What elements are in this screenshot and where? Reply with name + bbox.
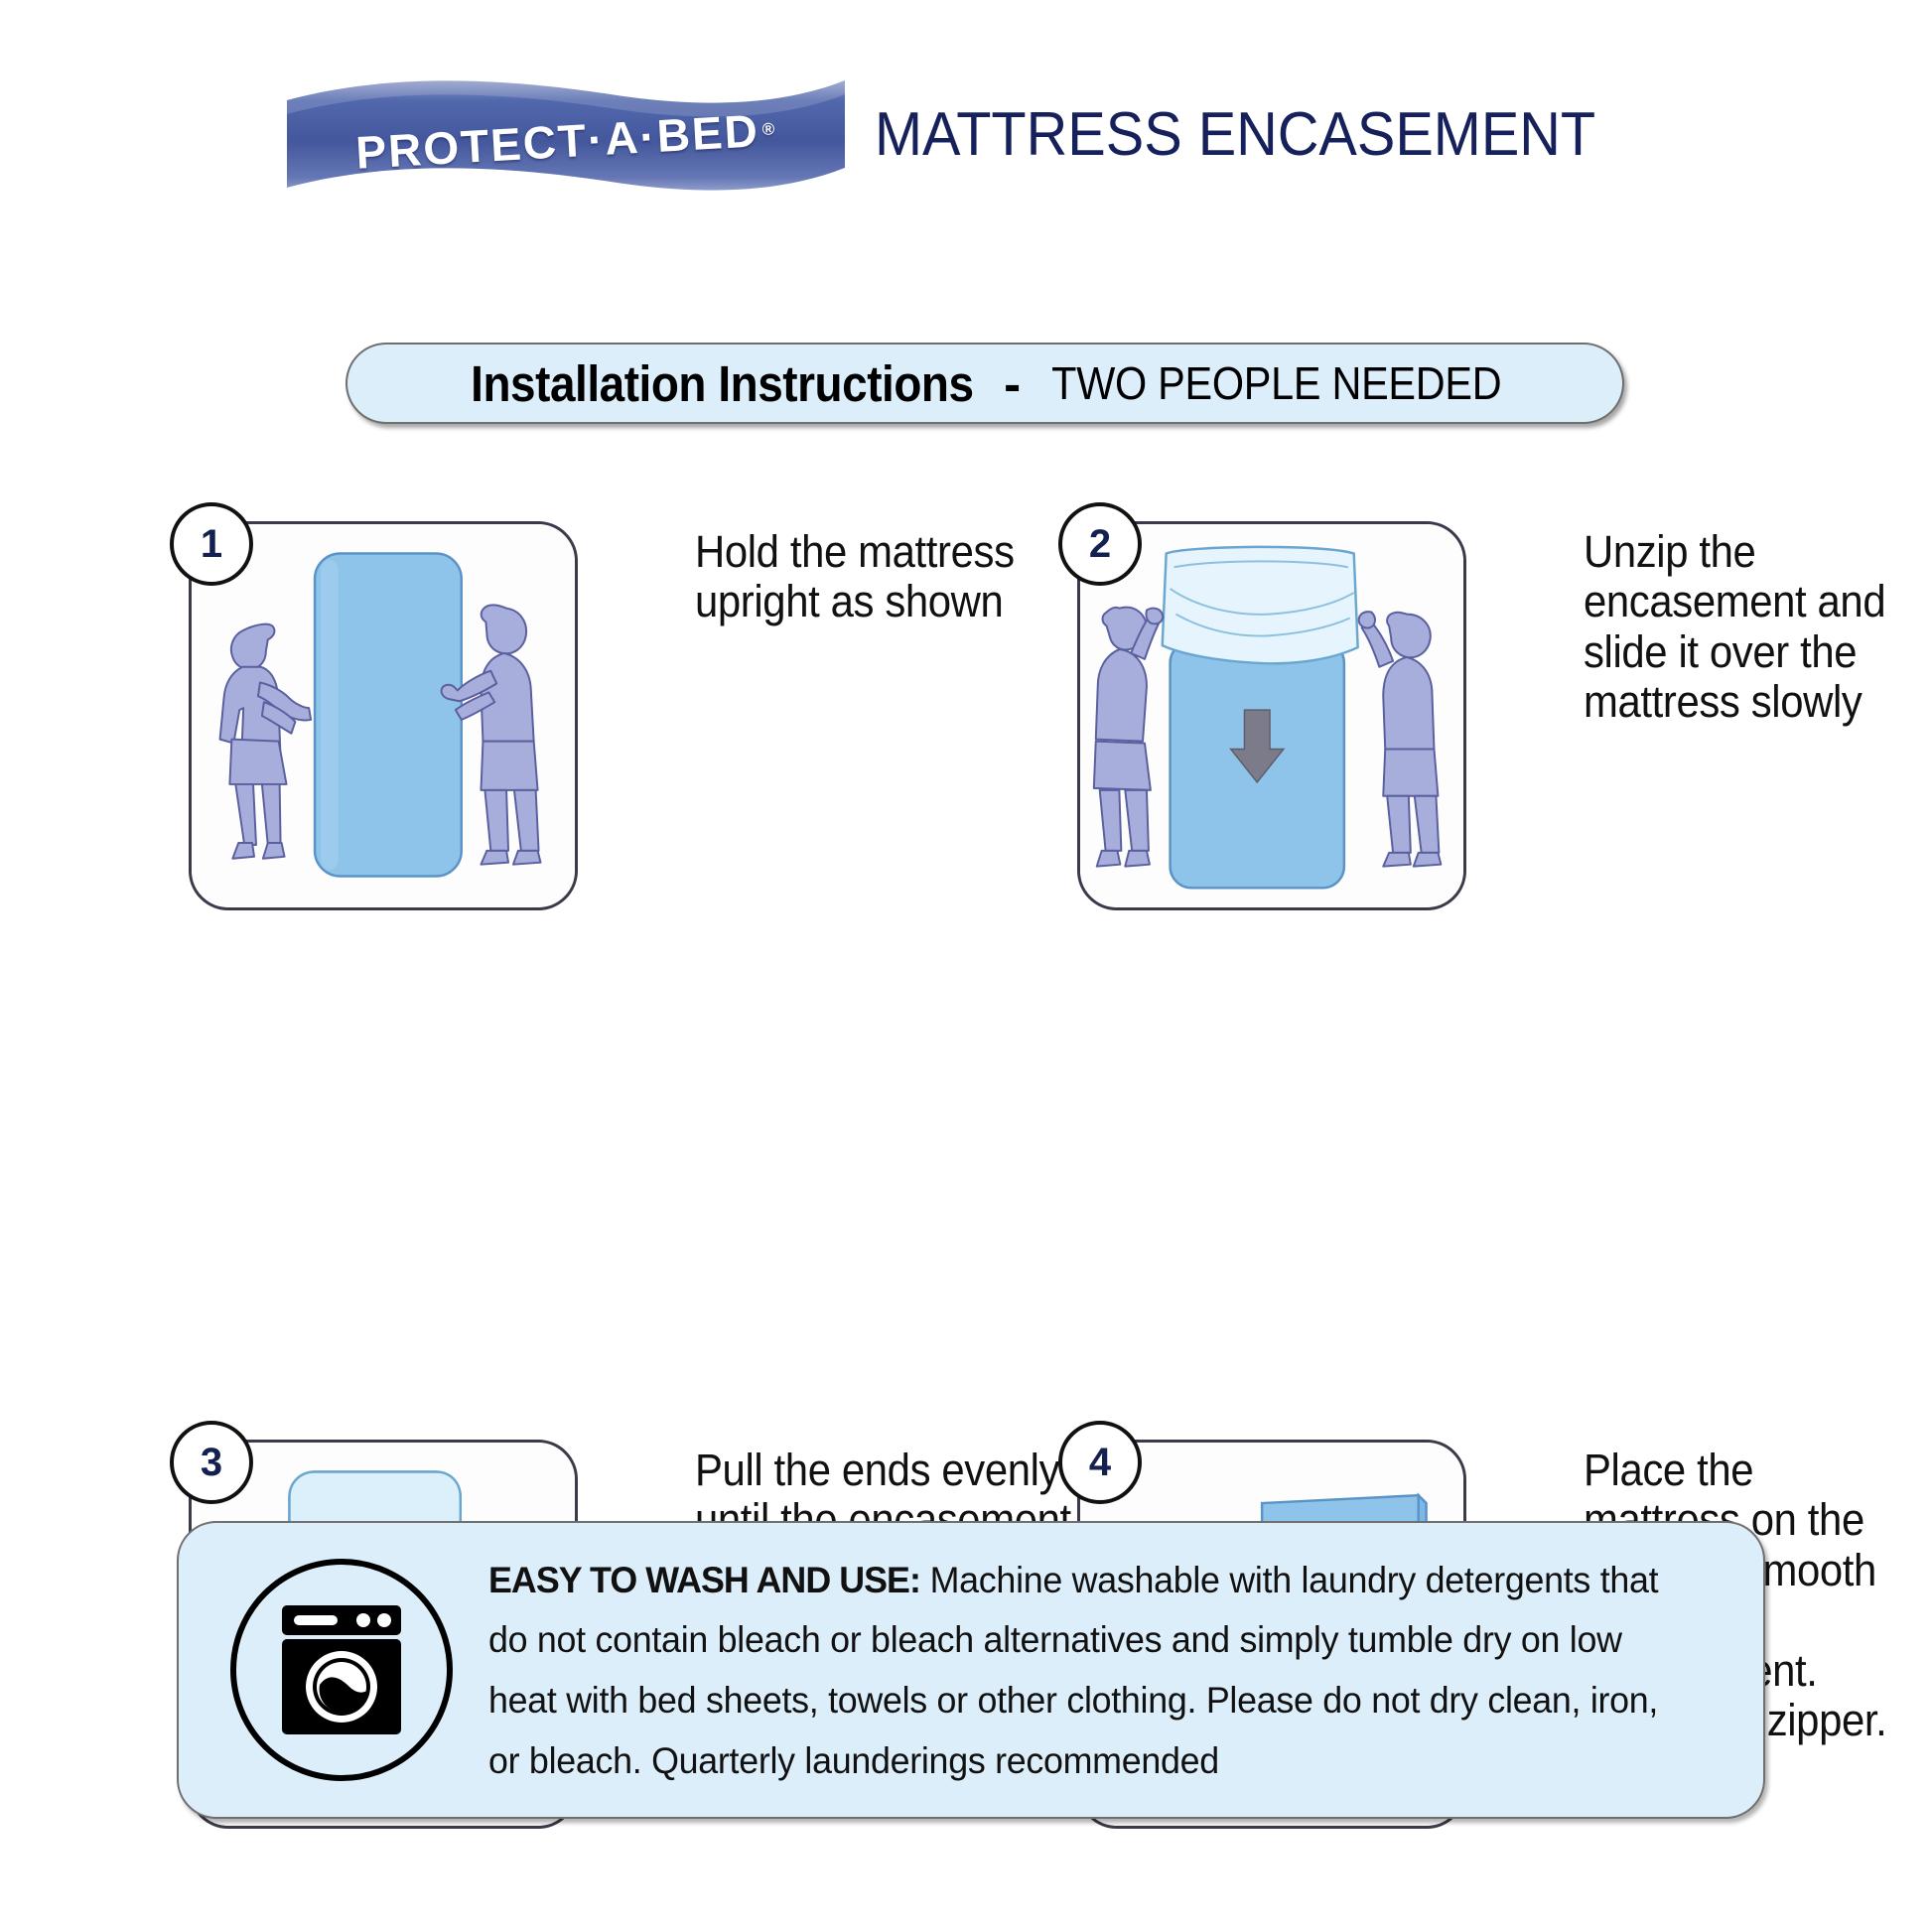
care-instructions-text: EASY TO WASH AND USE: Machine washable w… bbox=[488, 1550, 1674, 1791]
step-2-illustration-panel: 2 bbox=[1077, 521, 1466, 910]
brand-logo: PROTECT·A·BED® bbox=[283, 72, 849, 197]
step-2: 2 bbox=[1077, 521, 1932, 910]
steps-row-bottom: 3 bbox=[0, 983, 1932, 1445]
step-2-number-badge: 2 bbox=[1058, 502, 1142, 586]
steps-row-top: 1 bbox=[0, 521, 1932, 983]
step-1-text: Hold the mattress upright as shown bbox=[695, 521, 1092, 627]
care-instructions-panel: EASY TO WASH AND USE: Machine washable w… bbox=[177, 1521, 1765, 1819]
step-1-number-badge: 1 bbox=[170, 502, 253, 586]
step-4-number-badge: 4 bbox=[1058, 1421, 1142, 1504]
instructions-subtitle: TWO PEOPLE NEEDED bbox=[1051, 356, 1501, 410]
steps-grid: 1 bbox=[0, 521, 1932, 1445]
washing-machine-icon bbox=[276, 1601, 407, 1738]
step-3-number-badge: 3 bbox=[170, 1421, 253, 1504]
instructions-dash: - bbox=[1004, 354, 1021, 413]
page-header: PROTECT·A·BED® MATTRESS ENCASEMENT bbox=[0, 55, 1932, 213]
illustration-hold-mattress-upright bbox=[192, 524, 575, 907]
registered-trademark-icon: ® bbox=[761, 118, 777, 139]
installation-instructions-banner: Installation Instructions - TWO PEOPLE N… bbox=[345, 343, 1624, 424]
step-1-illustration-panel: 1 bbox=[189, 521, 578, 910]
step-1: 1 bbox=[189, 521, 1122, 910]
instructions-heading: Installation Instructions bbox=[471, 354, 973, 413]
step-2-text: Unzip the encasement and slide it over t… bbox=[1584, 521, 1907, 728]
washing-machine-icon-circle bbox=[230, 1559, 453, 1781]
logo-wordmark-text: PROTECT·A·BED bbox=[354, 102, 760, 179]
care-lead-label: EASY TO WASH AND USE: bbox=[488, 1559, 920, 1600]
illustration-slide-encasement-over-mattress bbox=[1080, 524, 1463, 907]
page-title: MATTRESS ENCASEMENT bbox=[875, 99, 1595, 170]
